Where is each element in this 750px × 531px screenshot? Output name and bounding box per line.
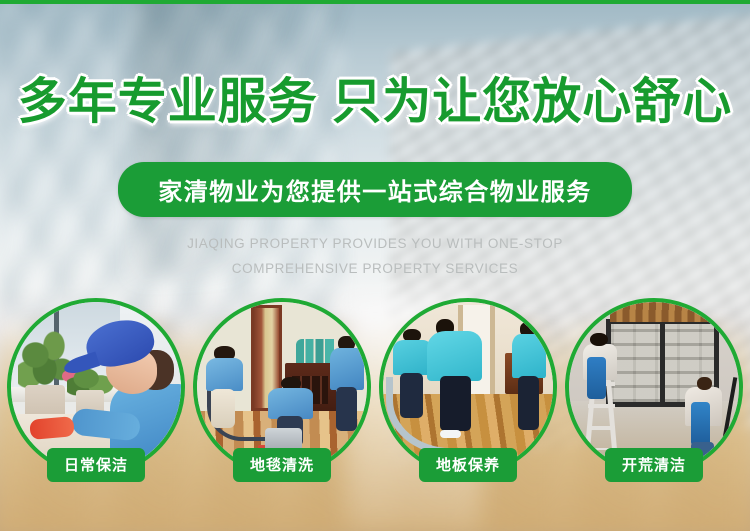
- photo-post-construction-cleaning: [569, 302, 739, 472]
- photo-daily-cleaning: [11, 302, 181, 472]
- service-card-floor-maintenance[interactable]: 地板保养: [379, 298, 557, 476]
- tagline-pill: 家清物业为您提供一站式综合物业服务: [118, 162, 632, 217]
- service-card-post-construction-cleaning[interactable]: 开荒清洁: [565, 298, 743, 476]
- service-cards: 日常保洁 地毯清洗: [0, 298, 750, 488]
- tagline-pill-wrap: 家清物业为您提供一站式综合物业服务: [0, 162, 750, 217]
- subtitle-line-1: JIAQING PROPERTY PROVIDES YOU WITH ONE-S…: [0, 232, 750, 257]
- card-label: 地板保养: [419, 448, 517, 482]
- service-card-carpet-cleaning[interactable]: 地毯清洗: [193, 298, 371, 476]
- top-accent-rule: [0, 0, 750, 4]
- photo-floor-maintenance: [383, 302, 553, 472]
- card-label: 开荒清洁: [605, 448, 703, 482]
- card-label: 日常保洁: [47, 448, 145, 482]
- subtitle-line-2: COMPREHENSIVE PROPERTY SERVICES: [0, 257, 750, 282]
- photo-carpet-cleaning: [197, 302, 367, 472]
- promo-banner: 多年专业服务 只为让您放心舒心 家清物业为您提供一站式综合物业服务 JIAQIN…: [0, 0, 750, 531]
- subtitle: JIAQING PROPERTY PROVIDES YOU WITH ONE-S…: [0, 232, 750, 282]
- card-label: 地毯清洗: [233, 448, 331, 482]
- headline: 多年专业服务 只为让您放心舒心: [0, 78, 750, 127]
- service-card-daily-cleaning[interactable]: 日常保洁: [7, 298, 185, 476]
